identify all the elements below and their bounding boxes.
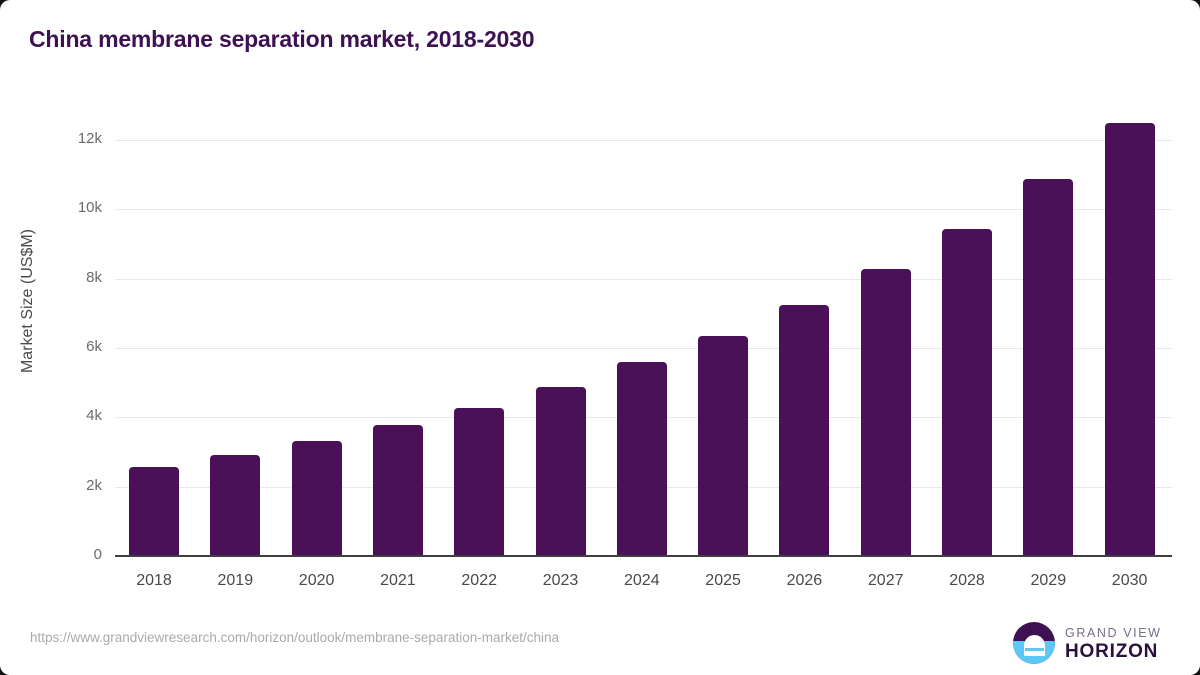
grand-view-horizon-logo[interactable]: GRAND VIEW HORIZON <box>1013 620 1173 666</box>
source-url[interactable]: https://www.grandviewresearch.com/horizo… <box>30 630 559 645</box>
x-axis-tick-label-2029: 2029 <box>1003 572 1093 590</box>
x-axis-line <box>115 555 1172 557</box>
x-axis-tick-label-2021: 2021 <box>353 572 443 590</box>
chart-card: China membrane separation market, 2018-2… <box>0 0 1200 675</box>
y-axis-tick-label: 0 <box>40 546 102 563</box>
logo-horizon-line-2 <box>1027 653 1041 656</box>
gridline <box>115 209 1172 210</box>
bar-2023[interactable] <box>536 387 586 556</box>
bar-2020[interactable] <box>292 441 342 557</box>
gridline <box>115 348 1172 349</box>
y-axis-tick-label: 12k <box>40 130 102 147</box>
logo-horizon-line-1 <box>1025 648 1044 651</box>
page-title: China membrane separation market, 2018-2… <box>29 26 534 53</box>
bar-2030[interactable] <box>1105 123 1155 556</box>
bar-2024[interactable] <box>617 362 667 556</box>
y-axis-tick-label: 4k <box>40 407 102 424</box>
x-axis-tick-label-2027: 2027 <box>841 572 931 590</box>
bar-2021[interactable] <box>373 425 423 556</box>
bar-2019[interactable] <box>210 455 260 556</box>
x-axis-tick-label-2023: 2023 <box>516 572 606 590</box>
y-axis-tick-label: 6k <box>40 338 102 355</box>
x-axis-tick-label-2018: 2018 <box>109 572 199 590</box>
x-axis-tick-label-2019: 2019 <box>190 572 280 590</box>
horizon-sun-icon <box>1013 622 1055 664</box>
y-axis-tick-label: 8k <box>40 269 102 286</box>
bar-2026[interactable] <box>779 305 829 556</box>
bar-2018[interactable] <box>129 467 179 556</box>
x-axis-tick-label-2024: 2024 <box>597 572 687 590</box>
bar-2025[interactable] <box>698 336 748 556</box>
x-axis-tick-label-2030: 2030 <box>1085 572 1175 590</box>
gridline <box>115 279 1172 280</box>
x-axis-tick-label-2020: 2020 <box>272 572 362 590</box>
bar-2022[interactable] <box>454 408 504 556</box>
gridline <box>115 140 1172 141</box>
x-axis-tick-label-2022: 2022 <box>434 572 524 590</box>
x-axis-tick-label-2028: 2028 <box>922 572 1012 590</box>
x-axis-tick-label-2026: 2026 <box>759 572 849 590</box>
y-axis-tick-label: 2k <box>40 477 102 494</box>
bar-2027[interactable] <box>861 269 911 556</box>
bar-2028[interactable] <box>942 229 992 556</box>
y-axis-tick-label: 10k <box>40 199 102 216</box>
x-axis-tick-label-2025: 2025 <box>678 572 768 590</box>
y-axis-title: Market Size (US$M) <box>19 111 37 491</box>
logo-text-grand-view: GRAND VIEW <box>1065 626 1162 640</box>
logo-text-horizon: HORIZON <box>1065 641 1158 663</box>
bar-2029[interactable] <box>1023 179 1073 556</box>
plot-area <box>115 112 1172 556</box>
